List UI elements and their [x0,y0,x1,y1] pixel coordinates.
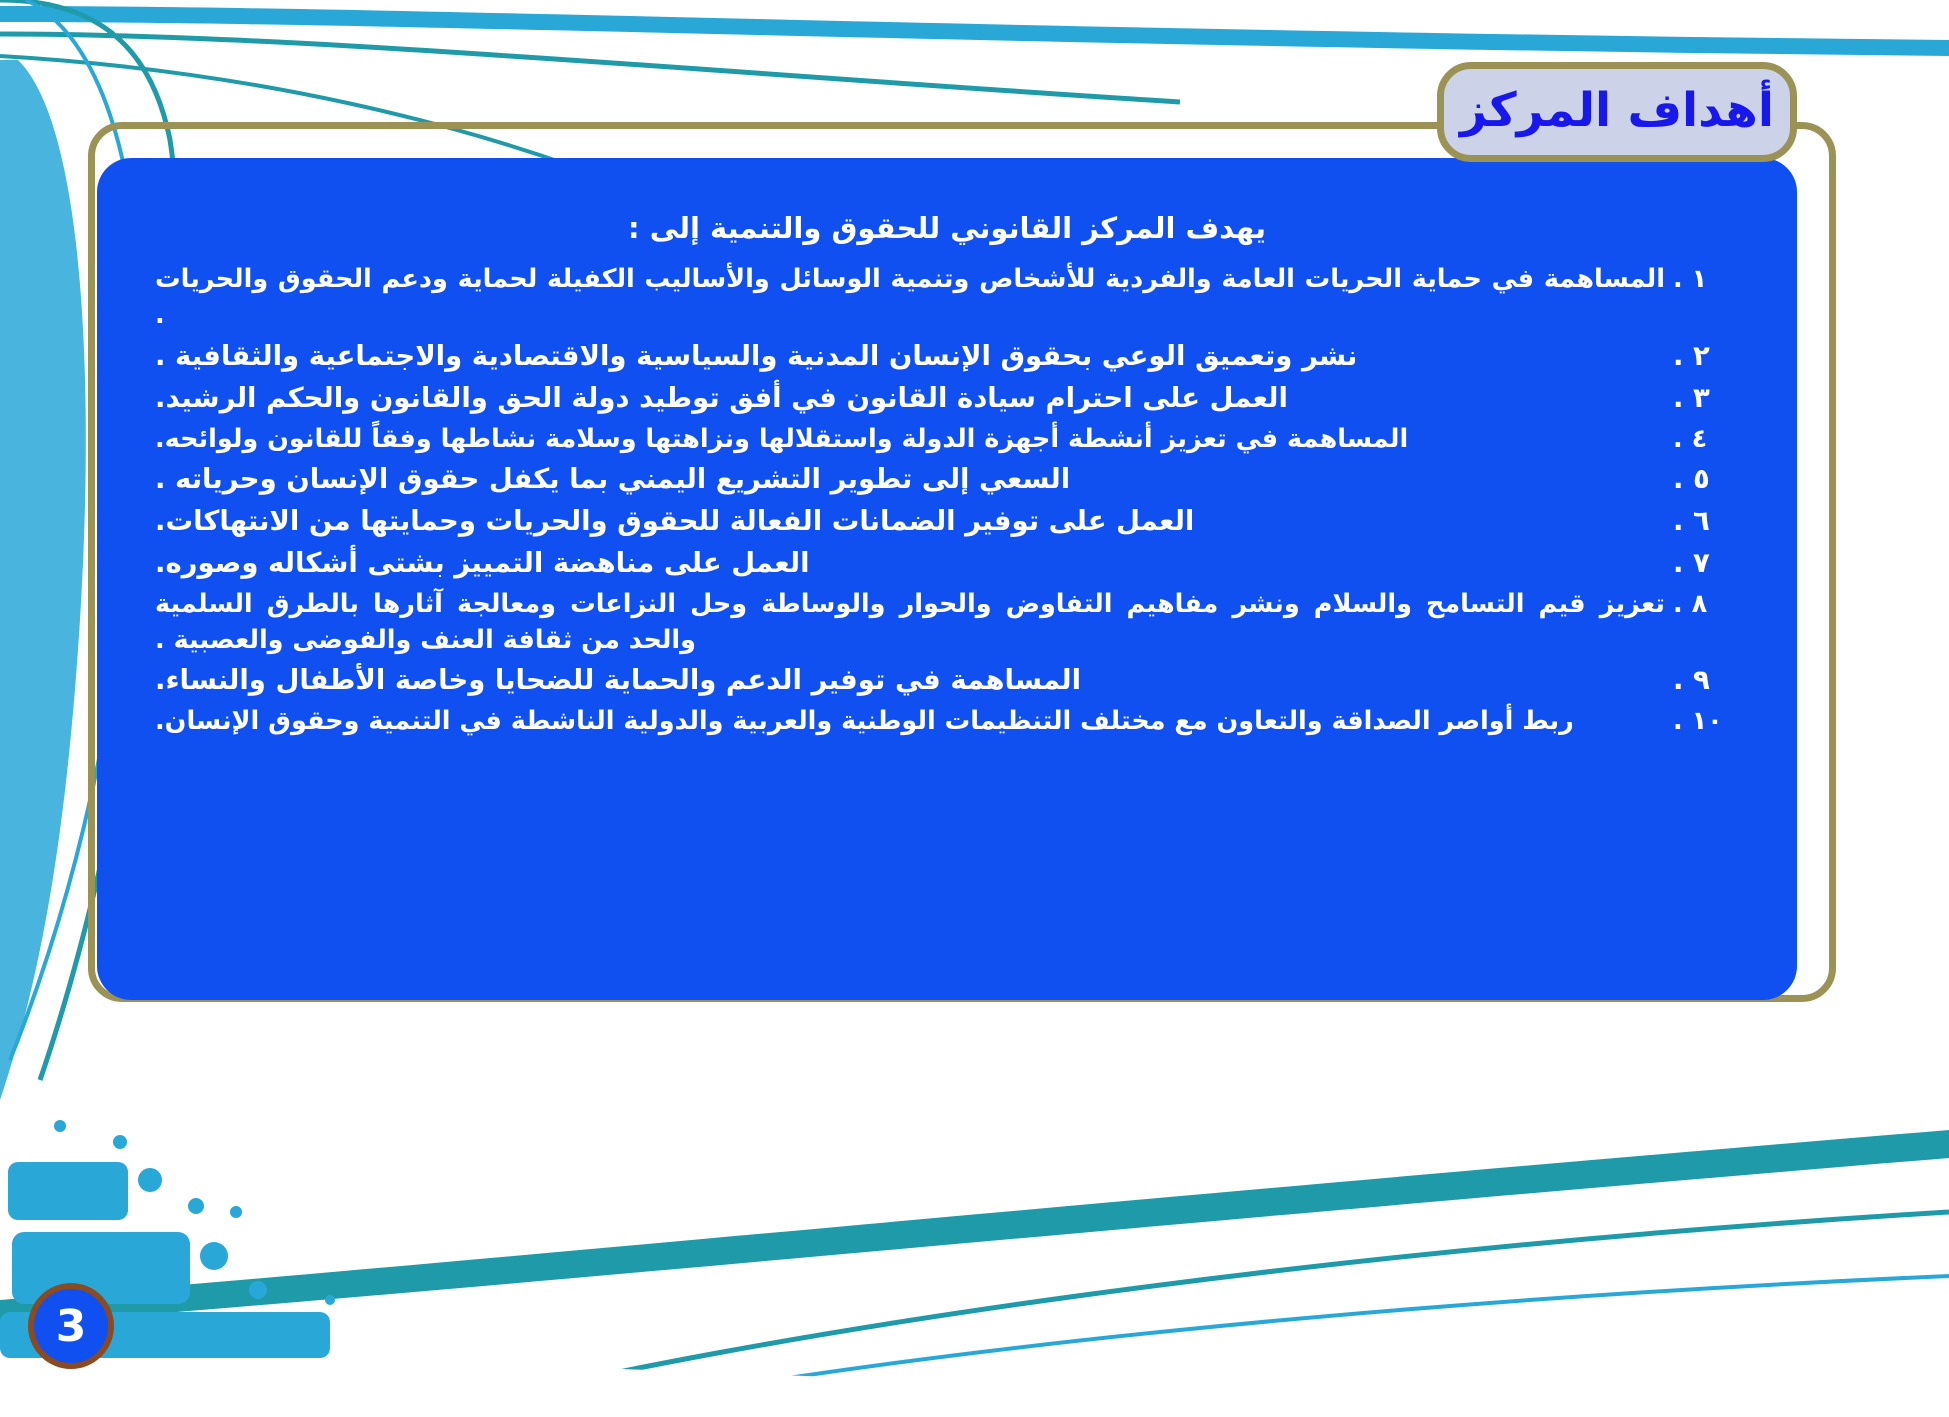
goal-number: ٤ . [1673,421,1739,457]
goal-number: ٦ . [1673,502,1739,541]
teal-swoosh-icon [0,1130,1949,1326]
goal-text: العمل على مناهضة التمييز بشتى أشكاله وصو… [155,547,810,579]
goal-item: ٧ .العمل على مناهضة التمييز بشتى أشكاله … [155,544,1739,583]
page-title: أهداف المركز [1460,87,1774,134]
goal-text: المساهمة في تعزيز أنشطة أجهزة الدولة واس… [155,424,1408,454]
goal-text: تعزيز قيم التسامح والسلام ونشر مفاهيم ال… [155,589,1665,655]
intro-text: يهدف المركز القانوني للحقوق والتنمية إلى… [155,210,1739,247]
goal-text: المساهمة في توفير الدعم والحماية للضحايا… [155,664,1081,696]
white-base-icon [0,1352,1949,1417]
goal-item: ٤ .المساهمة في تعزيز أنشطة أجهزة الدولة … [155,421,1739,457]
slide-title-badge: أهداف المركز [1437,62,1797,162]
goal-number: ٥ . [1673,460,1739,499]
goal-item: ٥ .السعي إلى تطوير التشريع اليمني بما يك… [155,460,1739,499]
goal-item: ٨ .تعزيز قيم التسامح والسلام ونشر مفاهيم… [155,586,1739,658]
page-number: 3 [56,1301,87,1352]
goal-item: ٢ .نشر وتعميق الوعي بحقوق الإنسان المدني… [155,337,1739,376]
goal-text: السعي إلى تطوير التشريع اليمني بما يكفل … [155,463,1070,495]
goal-text: ربط أواصر الصداقة والتعاون مع مختلف التن… [155,706,1574,736]
goal-text: العمل على توفير الضمانات الفعالة للحقوق … [155,505,1194,537]
teal-arc-icon [420,1212,1949,1417]
goal-number: ٧ . [1673,544,1739,583]
teal-arc-icon [0,34,1180,102]
content-panel: يهدف المركز القانوني للحقوق والتنمية إلى… [97,158,1797,1000]
goal-number: ١٠ . [1673,703,1739,739]
goal-text: نشر وتعميق الوعي بحقوق الإنسان المدنية و… [155,340,1357,372]
goal-text: المساهمة في حماية الحريات العامة والفردي… [155,264,1665,330]
cyan-swoosh-icon [0,6,1949,56]
goal-item: ١٠ .ربط أواصر الصداقة والتعاون مع مختلف … [155,703,1739,739]
goal-number: ٣ . [1673,379,1739,418]
goal-text: العمل على احترام سيادة القانون في أفق تو… [155,382,1288,414]
goals-list: ١ .المساهمة في حماية الحريات العامة والف… [155,261,1739,740]
goal-number: ٩ . [1673,661,1739,700]
slide-canvas: أهداف المركز يهدف المركز القانوني للحقوق… [0,0,1949,1417]
cyan-arc-icon [560,1276,1949,1417]
goal-item: ٦ .العمل على توفير الضمانات الفعالة للحق… [155,502,1739,541]
goal-item: ٣ .العمل على احترام سيادة القانون في أفق… [155,379,1739,418]
goal-number: ٨ . [1673,586,1739,622]
goal-number: ١ . [1673,261,1739,297]
page-number-badge: 3 [28,1283,114,1369]
cyan-band-icon [0,60,86,1100]
goal-number: ٢ . [1673,337,1739,376]
goal-item: ٩ .المساهمة في توفير الدعم والحماية للضح… [155,661,1739,700]
goal-item: ١ .المساهمة في حماية الحريات العامة والف… [155,261,1739,333]
